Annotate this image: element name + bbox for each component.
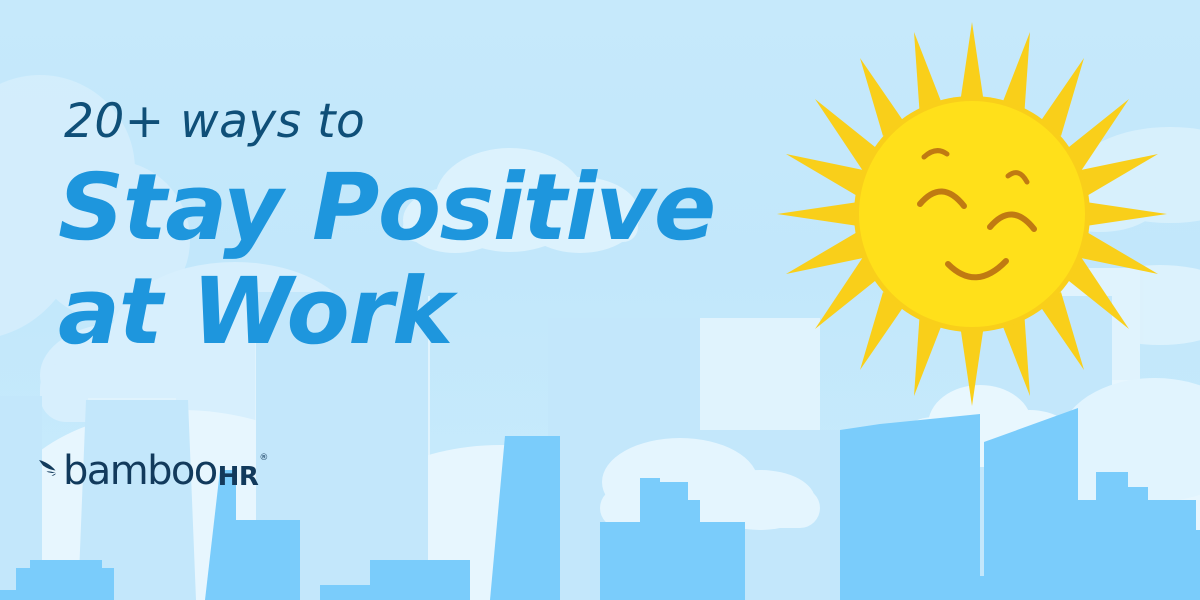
eyebrow-text: 20+ ways to <box>64 98 758 145</box>
smiling-sun-icon <box>772 14 1172 414</box>
building-front-12 <box>1196 530 1200 600</box>
headline-line-1: Stay Positive <box>58 161 758 255</box>
bamboohr-logo[interactable]: bamboo HR ® <box>38 447 268 491</box>
building-front-10 <box>870 576 1000 600</box>
logo-suffix: HR <box>218 464 259 491</box>
building-front-3 <box>236 520 300 600</box>
building-front-11 <box>1068 472 1196 600</box>
building-front-4 <box>370 560 470 600</box>
building-front-14 <box>320 585 372 600</box>
headline-line-2: at Work <box>58 265 758 359</box>
bamboo-leaf-icon <box>38 459 62 479</box>
logo-wordmark: bamboo <box>63 451 217 491</box>
smiling-sun-illustration <box>772 14 1172 418</box>
building-front-9-slanted <box>984 408 1078 600</box>
building-front-5 <box>490 436 560 600</box>
page-title: Stay Positive at Work <box>58 161 758 359</box>
logo-trademark: ® <box>259 453 268 463</box>
building-front-7 <box>655 482 688 502</box>
building-front-13 <box>0 590 18 600</box>
headline-block: 20+ ways to Stay Positive at Work <box>58 98 758 359</box>
positivity-banner: 20+ ways to Stay Positive at Work bamboo… <box>0 0 1200 600</box>
building-front-8 <box>840 414 980 600</box>
building-front-1 <box>16 560 114 600</box>
sun-face <box>859 101 1085 327</box>
